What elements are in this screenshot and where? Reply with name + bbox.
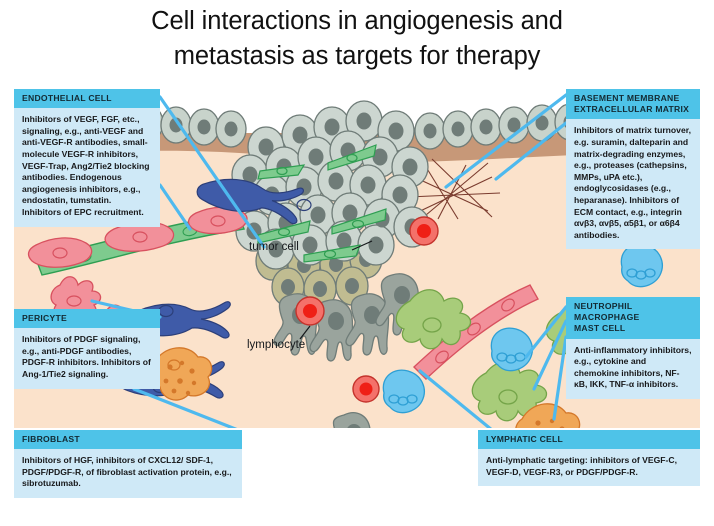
callout-lymphatic-cell[interactable]: LYMPHATIC CELL Anti-lymphatic targeting:… [478,430,700,486]
callout-fibroblast-header: FIBROBLAST [14,430,242,449]
callout-pericyte-body: Inhibitors of PDGF signaling, e.g., anti… [14,328,160,388]
callout-pericyte[interactable]: PERICYTE Inhibitors of PDGF signaling, e… [14,309,160,389]
callout-lymphatic-header: LYMPHATIC CELL [478,430,700,449]
callout-endothelial-header: ENDOTHELIAL CELL [14,89,160,108]
callout-pericyte-header: PERICYTE [14,309,160,328]
page-title: Cell interactions in angiogenesis and me… [0,4,714,74]
callout-fibroblast[interactable]: FIBROBLAST Inhibitors of HGF, inhibitors… [14,430,242,498]
callout-neutrophil-macrophage-mast[interactable]: NEUTROPHIL MACROPHAGE MAST CELL Anti-inf… [566,297,700,399]
title-line-1: Cell interactions in angiogenesis and [151,7,563,35]
title-line-2: metastasis as targets for therapy [0,39,714,74]
callout-bm-header-line-2: EXTRACELLULAR MATRIX [574,104,693,115]
callout-basement-membrane[interactable]: BASEMENT MEMBRANE EXTRACELLULAR MATRIX I… [566,89,700,249]
callout-bm-header-line-1: BASEMENT MEMBRANE [574,93,693,104]
slide-canvas: Cell interactions in angiogenesis and me… [0,0,714,526]
callout-basement-membrane-header: BASEMENT MEMBRANE EXTRACELLULAR MATRIX [566,89,700,119]
callout-neutro-header-line-2: MACROPHAGE [574,312,693,323]
callout-neutrophil-body: Anti-inflammatory inhibitors, e.g., cyto… [566,339,700,399]
callout-fibroblast-body: Inhibitors of HGF, inhibitors of CXCL12/… [14,449,242,498]
callout-lymphatic-body: Anti-lymphatic targeting: inhibitors of … [478,449,700,486]
label-lymphocyte: lymphocyte [247,339,305,351]
callout-neutrophil-header: NEUTROPHIL MACROPHAGE MAST CELL [566,297,700,339]
callout-neutro-header-line-3: MAST CELL [574,323,693,334]
callout-basement-membrane-body: Inhibitors of matrix turnover, e.g. sura… [566,119,700,249]
callout-neutro-header-line-1: NEUTROPHIL [574,301,693,312]
label-tumor-cell: tumor cell [249,241,299,253]
callout-endothelial-body: Inhibitors of VEGF, FGF, etc., signaling… [14,108,160,226]
callout-endothelial-cell[interactable]: ENDOTHELIAL CELL Inhibitors of VEGF, FGF… [14,89,160,227]
